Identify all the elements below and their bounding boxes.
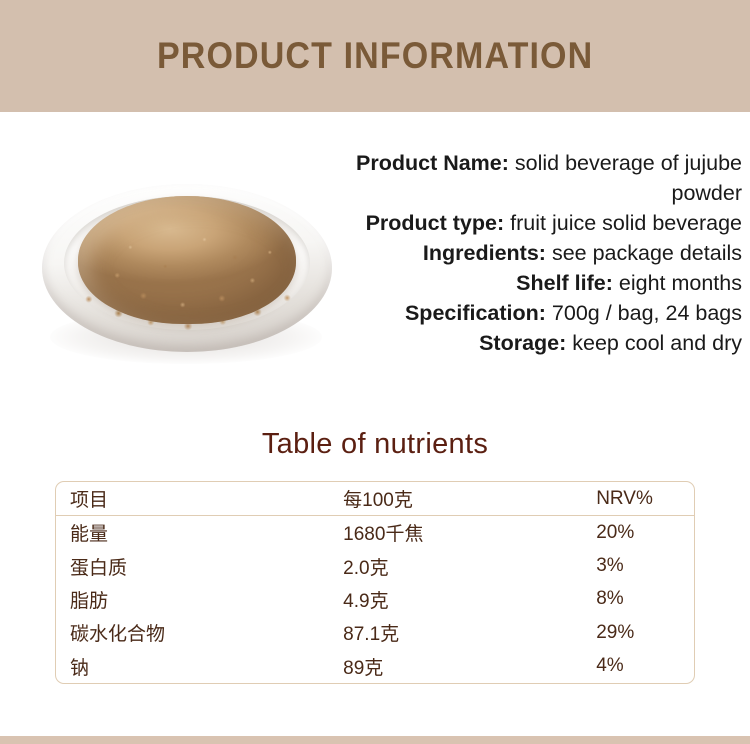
cell-nrv: 20% <box>588 516 694 550</box>
spec-label: Storage: <box>479 331 566 355</box>
nutrition-table-header: 项目 每100克 NRV% <box>56 482 694 516</box>
page-title: PRODUCT INFORMATION <box>157 35 593 77</box>
nutrition-table: 项目 每100克 NRV% 能量 1680千焦 20% 蛋白质 2.0克 3% … <box>56 482 694 683</box>
spec-value: see package details <box>552 241 742 265</box>
spec-label: Specification: <box>405 301 546 325</box>
powder-texture <box>78 196 296 324</box>
spec-label: Ingredients: <box>423 241 546 265</box>
nutrients-heading: Table of nutrients <box>0 428 750 461</box>
spec-label: Product type: <box>366 211 505 235</box>
spec-row-product-type: Product type: fruit juice solid beverage <box>356 208 742 238</box>
table-row: 蛋白质 2.0克 3% <box>56 549 694 582</box>
nutrition-table-body: 能量 1680千焦 20% 蛋白质 2.0克 3% 脂肪 4.9克 8% 碳水化… <box>56 516 694 684</box>
spec-row-product-name: Product Name: solid beverage of jujube p… <box>356 148 742 208</box>
spec-value: fruit juice solid beverage <box>510 211 742 235</box>
cell-per-100g: 89克 <box>339 650 588 683</box>
spec-row-ingredients: Ingredients: see package details <box>356 238 742 268</box>
cell-per-100g: 87.1克 <box>339 616 588 649</box>
column-header-item: 项目 <box>56 482 339 516</box>
spec-label: Product Name: <box>356 151 509 175</box>
cell-nrv: 29% <box>588 616 694 649</box>
cell-item: 碳水化合物 <box>56 616 339 649</box>
cell-per-100g: 2.0克 <box>339 549 588 582</box>
footer-strip <box>0 736 750 744</box>
cell-nrv: 3% <box>588 549 694 582</box>
cell-item: 蛋白质 <box>56 549 339 582</box>
column-header-nrv: NRV% <box>588 482 694 516</box>
cell-nrv: 4% <box>588 650 694 683</box>
cell-per-100g: 1680千焦 <box>339 516 588 550</box>
product-hero-section: Product Name: solid beverage of jujube p… <box>0 112 750 422</box>
page-header-banner: PRODUCT INFORMATION <box>0 0 750 112</box>
table-row: 脂肪 4.9克 8% <box>56 583 694 616</box>
product-image <box>34 160 340 375</box>
table-row: 能量 1680千焦 20% <box>56 516 694 550</box>
spec-value: solid beverage of jujube powder <box>515 151 742 205</box>
cell-item: 能量 <box>56 516 339 550</box>
column-header-per-100g: 每100克 <box>339 482 588 516</box>
nutrition-table-container: 项目 每100克 NRV% 能量 1680千焦 20% 蛋白质 2.0克 3% … <box>55 481 695 684</box>
cell-item: 脂肪 <box>56 583 339 616</box>
spec-label: Shelf life: <box>516 271 613 295</box>
spec-value: 700g / bag, 24 bags <box>552 301 742 325</box>
table-row: 碳水化合物 87.1克 29% <box>56 616 694 649</box>
spec-row-shelf-life: Shelf life: eight months <box>356 268 742 298</box>
spec-value: eight months <box>619 271 742 295</box>
cell-item: 钠 <box>56 650 339 683</box>
product-spec-list: Product Name: solid beverage of jujube p… <box>356 148 742 358</box>
cell-nrv: 8% <box>588 583 694 616</box>
spec-row-storage: Storage: keep cool and dry <box>356 328 742 358</box>
cell-per-100g: 4.9克 <box>339 583 588 616</box>
table-row: 钠 89克 4% <box>56 650 694 683</box>
spec-value: keep cool and dry <box>572 331 742 355</box>
spec-row-specification: Specification: 700g / bag, 24 bags <box>356 298 742 328</box>
table-header-row: 项目 每100克 NRV% <box>56 482 694 516</box>
